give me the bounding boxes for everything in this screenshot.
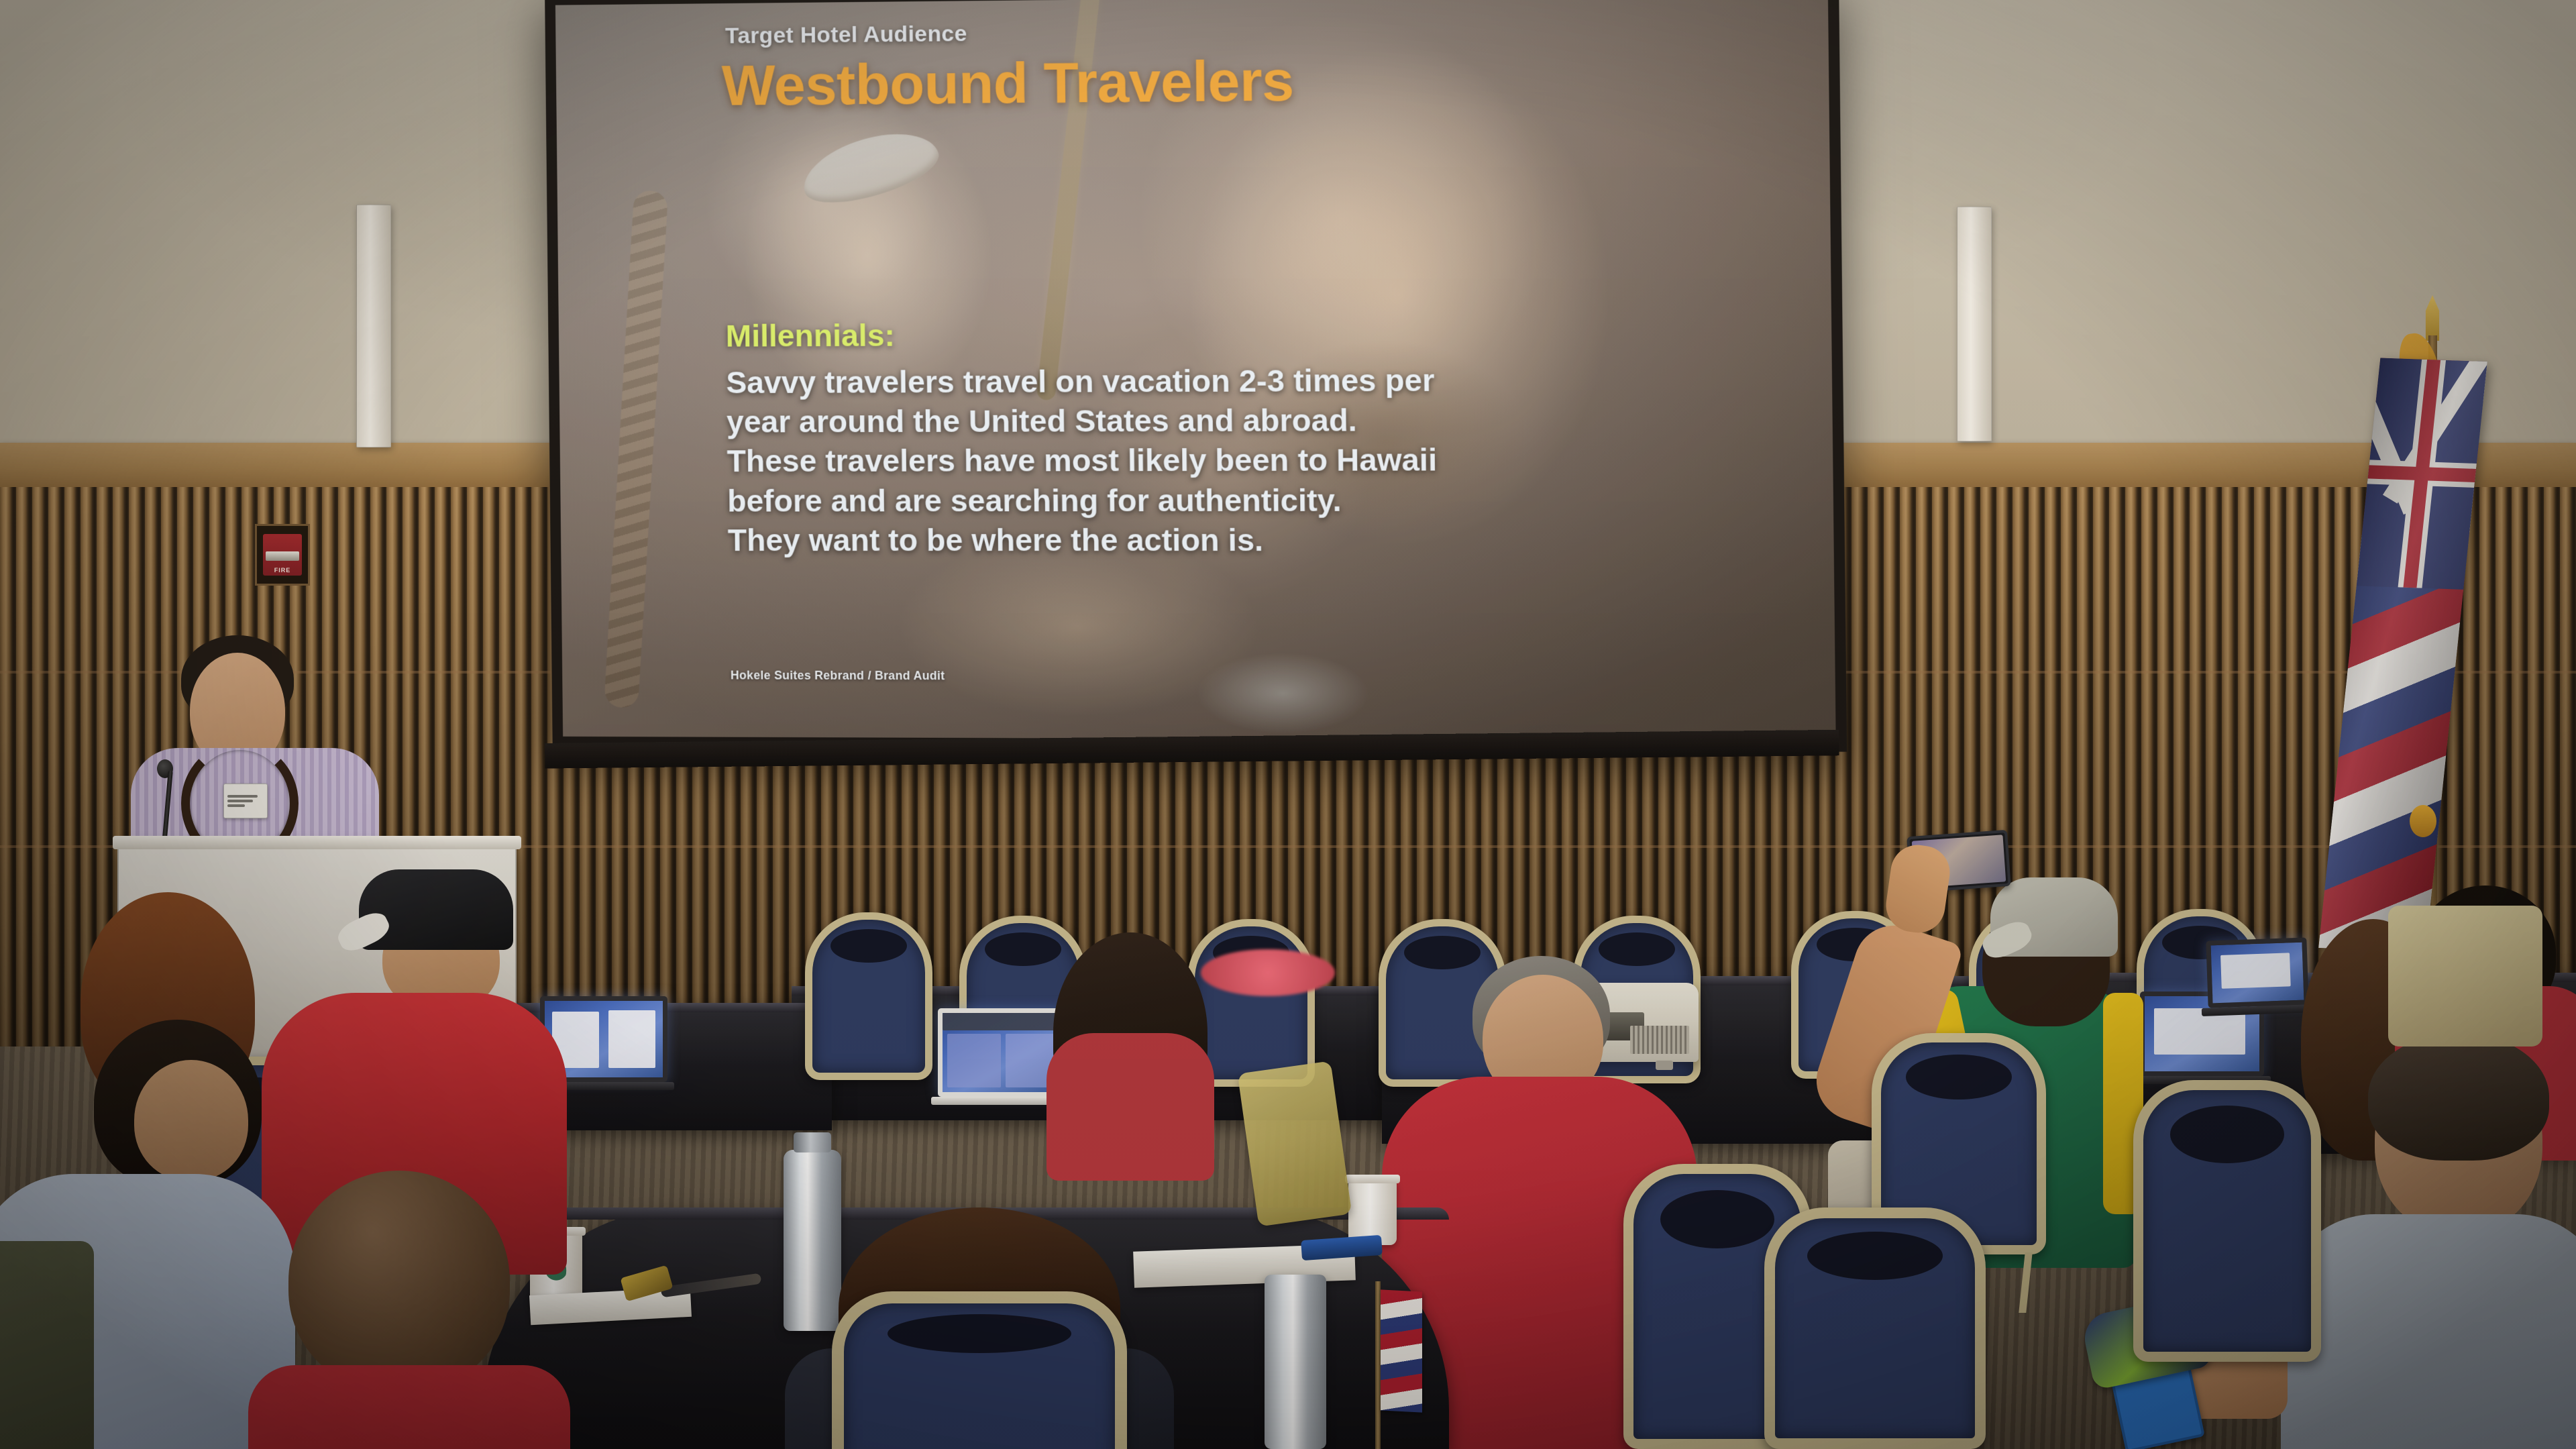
slide-footer: Hokele Suites Rebrand / Brand Audit (731, 669, 945, 684)
torso (1046, 1033, 1214, 1181)
hand (1882, 842, 1953, 936)
conference-room-photo: FIRE Target Hotel Audience Westbound Tra… (0, 0, 2576, 1449)
flag-finial-icon (2420, 295, 2445, 341)
hair (2368, 1033, 2549, 1161)
flag-cloth (2318, 358, 2487, 951)
fire-alarm-box: FIRE (263, 534, 302, 576)
small-flag-pole (1375, 1281, 1381, 1449)
projection-screen: Target Hotel Audience Westbound Traveler… (545, 0, 1847, 752)
red-shirt-torso-foreground (248, 1365, 570, 1449)
slide-body-line: Savvy travelers travel on vacation 2-3 t… (726, 360, 1597, 402)
pink-feather-boa (1201, 949, 1335, 996)
small-flag-cloth (1381, 1289, 1422, 1412)
fire-alarm-handle (266, 551, 299, 561)
beige-blazer-on-chair (2388, 906, 2542, 1046)
small-desk-flag (1348, 1281, 1410, 1449)
bottle-cap (794, 1132, 830, 1152)
person-foreground-bald (248, 1171, 570, 1449)
podium-lip (113, 836, 521, 849)
chair-right-foreground[interactable] (2133, 1080, 2321, 1362)
wall-speaker-right (1957, 207, 1992, 441)
slide-body-line: before and are searching for authenticit… (727, 480, 1599, 520)
slide-body-line: These travelers have most likely been to… (727, 439, 1598, 480)
slide-kicker: Millennials: (725, 317, 895, 354)
fire-alarm-label: FIRE (274, 567, 291, 576)
black-cap[interactable] (359, 869, 513, 950)
slide-body-line: They want to be where the action is. (728, 520, 1599, 560)
flag-shading (2318, 358, 2487, 951)
slide-surface: Target Hotel Audience Westbound Traveler… (555, 0, 1836, 741)
chair-back-1[interactable] (805, 912, 932, 1080)
chair-right-mid[interactable] (1764, 1207, 1986, 1449)
grey-shirt-torso (2281, 1214, 2576, 1449)
wall-speaker-left (356, 205, 391, 447)
slide-title: Westbound Travelers (721, 48, 1294, 119)
person-presenter (144, 641, 366, 862)
presenter-name-badge (223, 784, 268, 818)
head-back (288, 1171, 510, 1392)
person-red-top-back (1046, 959, 1214, 1120)
chair-center-foreground[interactable] (832, 1291, 1127, 1449)
head (134, 1060, 248, 1181)
aluminum-can[interactable] (1265, 1275, 1326, 1449)
slide-eyebrow: Target Hotel Audience (725, 21, 967, 49)
olive-jacket (0, 1241, 94, 1449)
slide-body-line: year around the United States and abroad… (727, 400, 1598, 441)
flag-tassel (2410, 805, 2436, 837)
fire-alarm-pull-station[interactable]: FIRE (255, 524, 310, 586)
slide-body: Savvy travelers travel on vacation 2-3 t… (726, 360, 1599, 559)
cup-lid (1345, 1175, 1400, 1183)
